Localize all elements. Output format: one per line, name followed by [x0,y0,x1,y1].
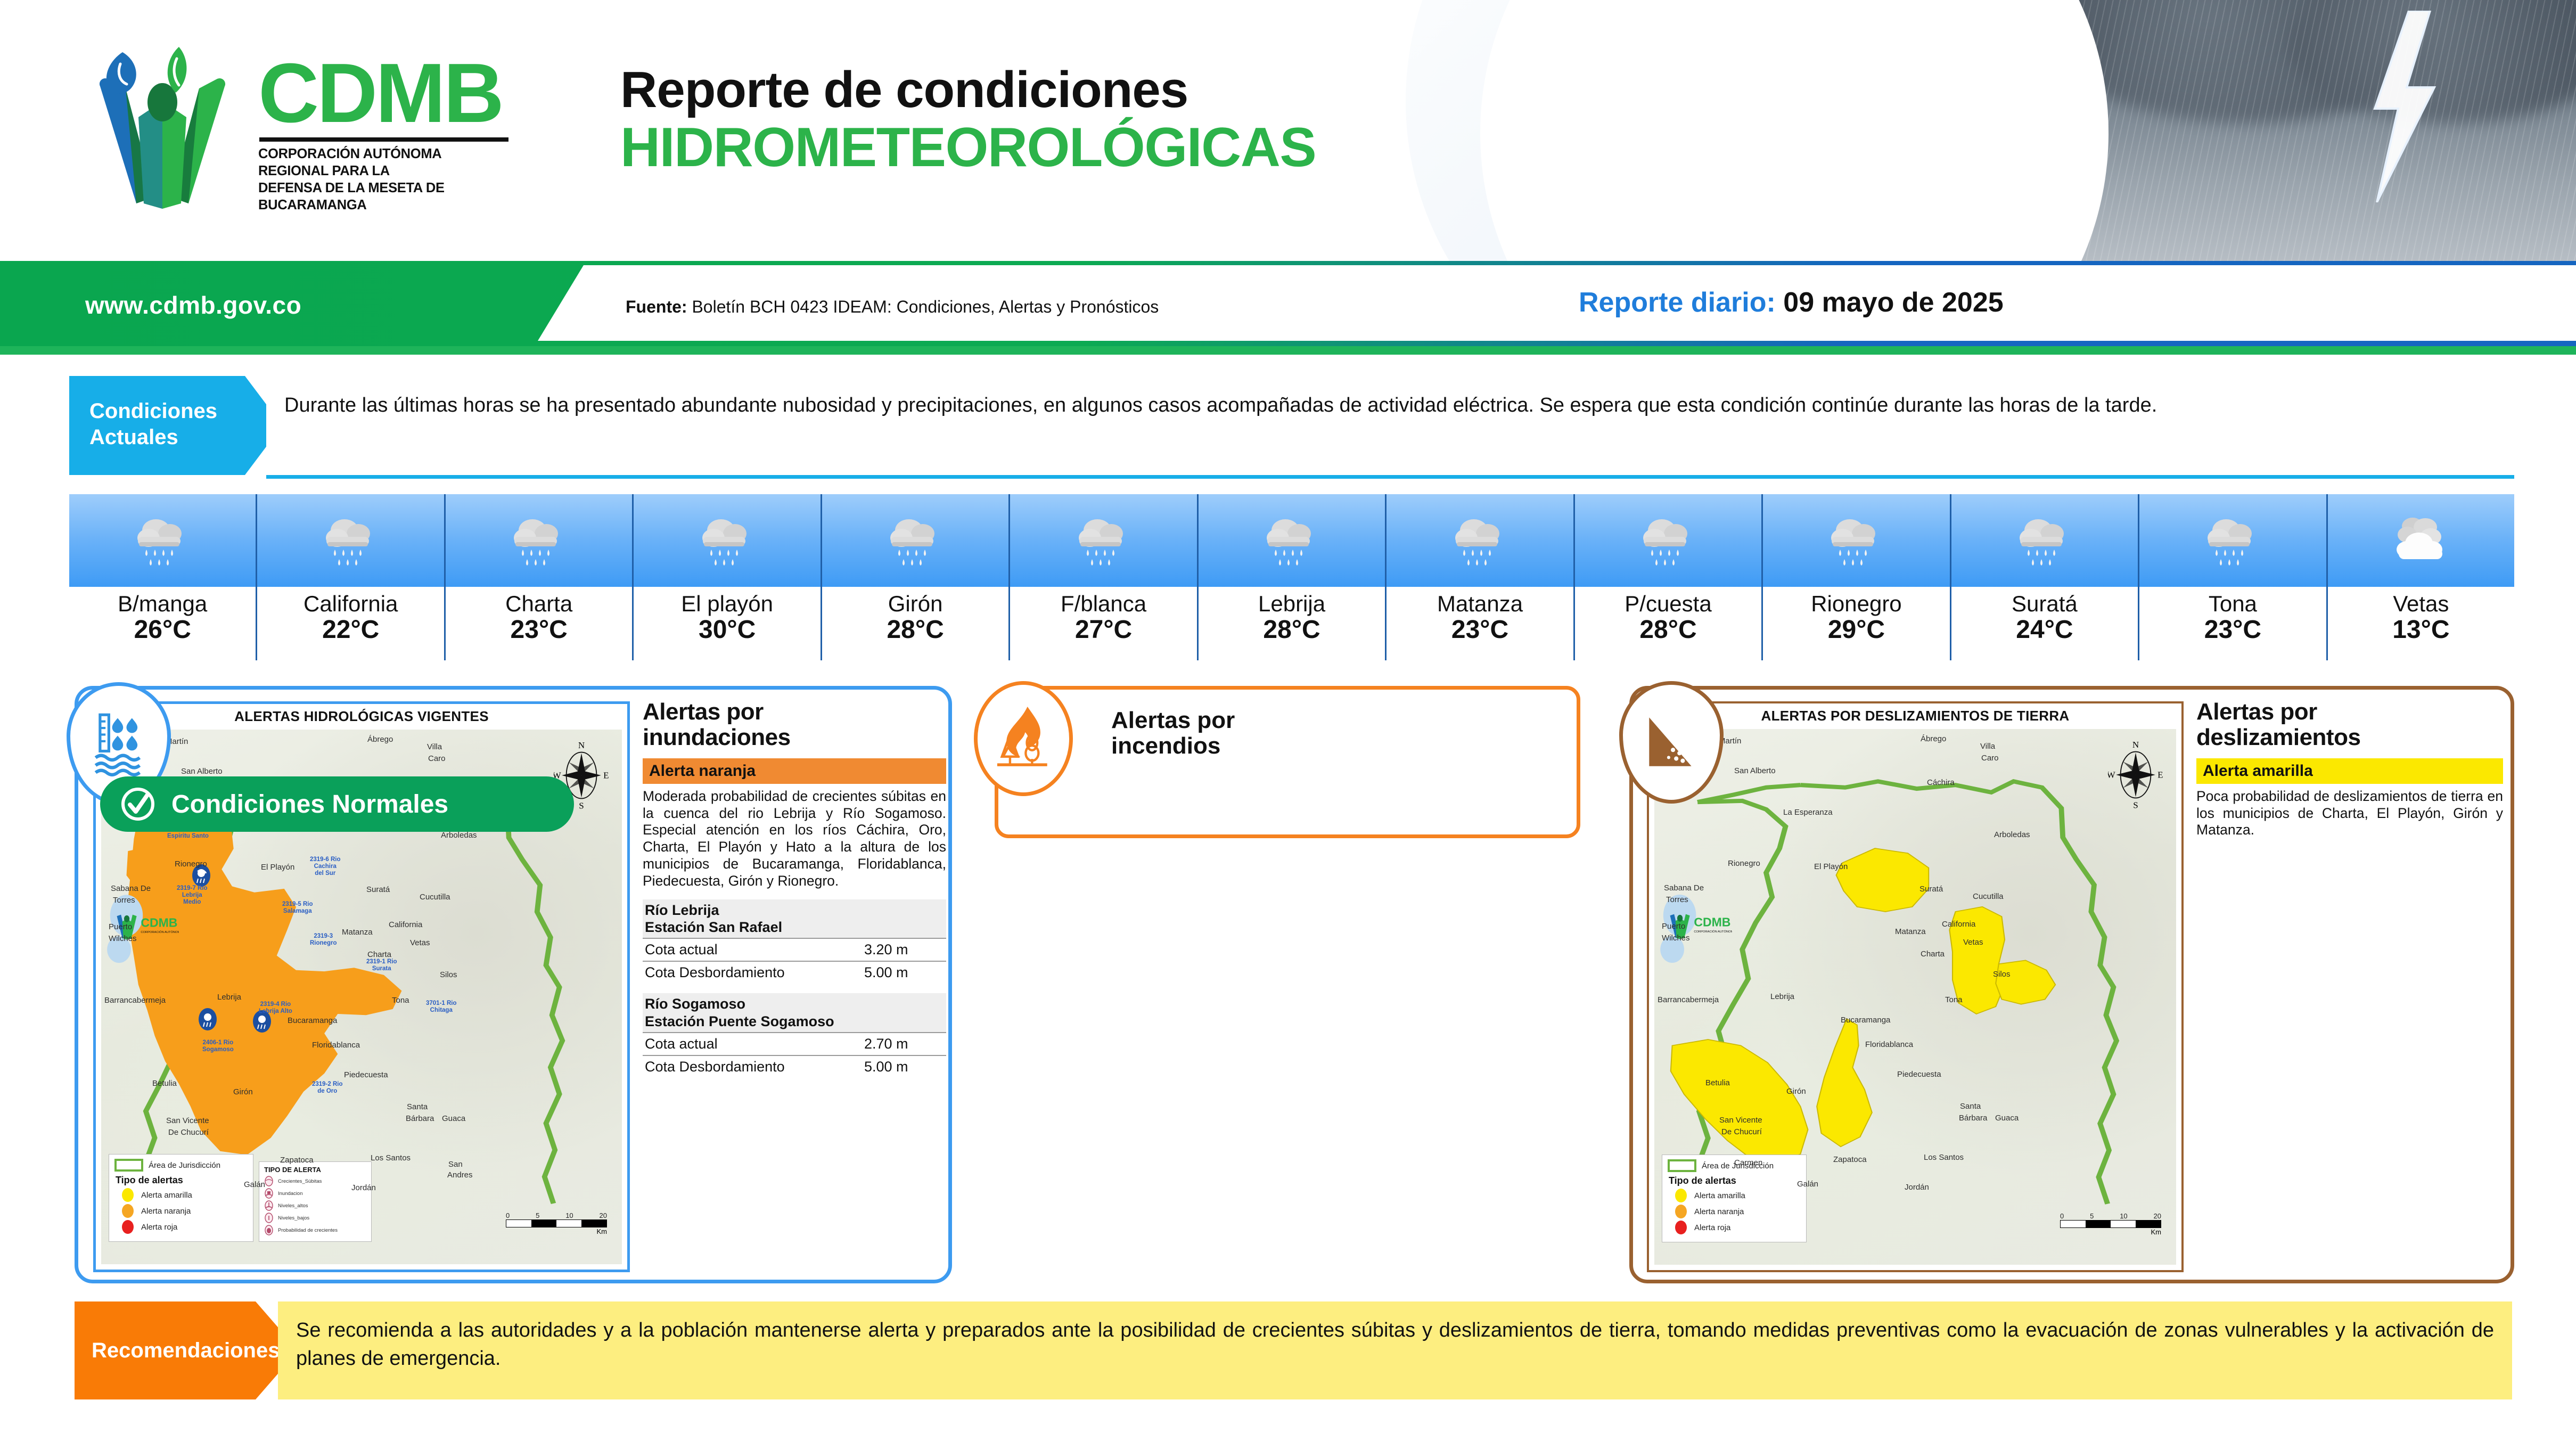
map-place-label: Floridablanca [1865,1040,1913,1049]
niveles-bajos-icon [264,1213,274,1223]
map-place-label: Suratá [366,885,390,894]
map-place-label: Galán [244,1180,265,1189]
logo-subtitle-line2: DEFENSA DE LA MESETA DE BUCARAMANGA [258,180,514,214]
svg-text:S: S [579,800,584,811]
map-place-label: California [1942,920,1975,929]
landslide-map-scalebar: 0 5 10 20 Km [2060,1212,2161,1236]
lightning-icon [2347,11,2454,202]
rain-cloud-icon [446,494,632,587]
map-place-label: Bucaramanga [288,1016,337,1025]
recommendations-tag: Recomendaciones: [75,1301,298,1399]
scale-tick: 20 [600,1211,607,1219]
weather-temperature: 27°C [1075,617,1132,643]
legend-types-title: Tipo de alertas [1669,1175,1801,1186]
flood-alerts-card: ALERTAS HIDROLÓGICAS VIGENTES [75,686,952,1283]
map-place-label: Wilches [1662,934,1690,943]
row-value: 2.70 m [864,1036,944,1052]
weather-city-name: Girón [888,592,943,616]
map-basin-label: 2319-6 RioCachiradel Sur [310,856,341,877]
check-circle-icon [118,784,158,824]
rain-cloud-icon [1763,494,1949,587]
flood-heading-line2: inundaciones [643,725,946,750]
weather-city-name: Lebrija [1258,592,1325,616]
fire-heading-line1: Alertas por [1111,708,1235,733]
legend-dot-yellow [122,1188,134,1202]
alert-type-label: Inundacion [278,1191,302,1197]
map-place-label: Piedecuesta [1897,1070,1941,1079]
map-place-label: Cucutilla [420,893,450,902]
map-place-label: Silos [1993,970,2011,979]
map-place-label: Cucutilla [1973,892,2004,901]
scale-unit: Km [2060,1228,2161,1236]
alert-marker-icon [197,1006,218,1032]
map-place-label: Bárbara [1959,1114,1987,1123]
fire-alerts-card: Alertas por incendios [995,686,1580,838]
weather-cell-matanza: Matanza23°C [1387,494,1574,660]
landslide-alert-description: Poca probabilidad de deslizamientos de t… [2196,788,2503,839]
legend-dot-red [122,1220,134,1234]
svg-text:E: E [603,771,609,781]
inundacion-icon [264,1188,274,1199]
map-place-label: De Chucurí [1721,1127,1762,1136]
current-conditions-text: Durante las últimas horas se ha presenta… [266,376,2514,475]
report-date-block: Reporte diario: 09 mayo de 2025 [1579,286,2004,318]
map-place-label: Ábrego [1921,734,1946,743]
map-place-label: Matanza [342,928,373,937]
rain-cloud-icon [822,494,1008,587]
jurisdiction-swatch [114,1159,143,1172]
weather-city-name: Matanza [1437,592,1523,616]
scale-tick: 5 [2090,1212,2094,1220]
source-text: Fuente: Boletín BCH 0423 IDEAM: Condicio… [626,297,1159,317]
weather-temperature: 29°C [1828,617,1885,643]
map-place-label: Jordán [1905,1183,1929,1192]
logo-subtitle-line1: CORPORACIÓN AUTÓNOMA REGIONAL PARA LA [258,146,514,180]
map-place-label: Villa [1980,742,1995,751]
legend-dot-orange [122,1204,134,1218]
scale-tick: 20 [2154,1212,2161,1220]
svg-text:CORPORACIÓN AUTÓNOMA: CORPORACIÓN AUTÓNOMA [1694,930,1732,934]
weather-cell-tona: Tona23°C [2139,494,2327,660]
map-basin-label: 2319-2 Riode Oro [312,1081,343,1095]
map-place-label: Zapatoca [280,1156,314,1165]
landslide-alert-level-badge: Alerta amarilla [2196,758,2503,784]
rain-cloud-icon [634,494,820,587]
weather-city-name: Rionegro [1811,592,1901,616]
table-row: Cota Desbordamiento 5.00 m [643,961,946,984]
rain-cloud-icon [1387,494,1573,587]
weather-temperature: 24°C [2016,617,2073,643]
table-row: Cota Desbordamiento 5.00 m [643,1055,946,1078]
map-place-label: Charta [367,950,391,959]
jurisdiction-swatch [1668,1159,1696,1172]
scale-tick: 10 [565,1211,573,1219]
weather-city-name: Vetas [2393,592,2449,616]
row-value: 5.00 m [864,964,944,981]
landslide-alerts-card: ALERTAS POR DESLIZAMIENTOS DE TIERRA [1629,686,2514,1283]
hydro-map-scalebar: 0 5 10 20 Km [506,1211,607,1235]
svg-text:S: S [2133,800,2138,810]
river-name: Río Sogamoso [645,995,943,1012]
map-basin-label: 2319-4 RioLebrija Alto [259,1001,292,1015]
rain-cloud-icon [1199,494,1385,587]
river-station-table-sogamoso: Río Sogamoso Estación Puente Sogamoso Co… [643,993,946,1078]
map-place-label: Rionegro [1728,859,1760,868]
map-place-label: San Vicente [166,1116,209,1125]
legend-label-red: Alerta roja [141,1223,177,1232]
map-place-label: Lebrija [1770,992,1794,1001]
alert-type-label: Niveles_altos [278,1203,308,1209]
svg-text:CORPORACIÓN AUTÓNOMA: CORPORACIÓN AUTÓNOMA [141,930,179,934]
map-place-label: Matanza [1895,927,1926,936]
weather-cell-charta: Charta23°C [446,494,634,660]
map-place-label: Tona [392,996,409,1005]
map-basin-label: 2319-3Rionegro [310,933,337,947]
weather-temperature: 28°C [887,617,944,643]
svg-text:CDMB: CDMB [1694,915,1730,929]
info-bar: www.cdmb.gov.co Fuente: Boletín BCH 0423… [0,261,2576,350]
landslide-heading-line2: deslizamientos [2196,725,2503,750]
bar-underline [0,346,2576,355]
scale-tick: 0 [2060,1212,2064,1220]
row-label: Cota Desbordamiento [645,1059,785,1075]
report-date-label: Reporte diario: [1579,287,1776,318]
legend-label-red: Alerta roja [1694,1223,1730,1232]
map-place-label: Barrancabermeja [1658,995,1719,1004]
map-place-label: Tona [1945,995,1963,1004]
fire-status-badge: Condiciones Normales [100,776,574,832]
current-conditions-tag: Condiciones Actuales [69,376,282,475]
legend-jurisdiction-label: Área de Jurisdicción [149,1161,220,1170]
alert-type-label: Crecientes_Súbitas [278,1178,322,1184]
weather-temperature: 30°C [699,617,756,643]
hydro-map-legend: Área de Jurisdicción Tipo de alertas Ale… [109,1154,253,1242]
svg-text:CDMB: CDMB [141,916,177,930]
website-url[interactable]: www.cdmb.gov.co [85,291,301,320]
landslide-card-heading: Alertas por deslizamientos [2196,699,2503,751]
map-basin-label: 2406-1 RioSogamoso [202,1039,234,1053]
scale-unit: Km [506,1227,607,1235]
source-value: Boletín BCH 0423 IDEAM: Condiciones, Ale… [692,297,1159,316]
row-label: Cota actual [645,1036,718,1052]
weather-city-name: P/cuesta [1625,592,1711,616]
map-place-label: Los Santos [1924,1153,1964,1162]
map-place-label: Torres [113,896,135,905]
rain-cloud-icon [1010,494,1196,587]
compass-rose-icon: N S W E [2108,739,2163,811]
map-place-label: Villa [427,742,442,751]
map-place-label: Jordán [351,1183,376,1192]
page-header: CDMB CORPORACIÓN AUTÓNOMA REGIONAL PARA … [0,0,2576,261]
map-place-label: Rionegro [175,859,207,869]
rain-cloud-icon [257,494,444,587]
landslide-map-legend: Área de Jurisdicción Tipo de alertas Ale… [1662,1155,1807,1242]
map-place-label: Bucaramanga [1841,1016,1890,1025]
cdmb-logo-mark [75,37,250,213]
niveles-altos-icon [264,1200,274,1211]
map-place-label: Torres [1666,895,1688,904]
map-place-label: Barrancabermeja [104,996,166,1005]
map-place-label: Guaca [442,1114,465,1123]
alert-type-legend-title: TIPO DE ALERTA [264,1166,367,1174]
weather-city-name: California [303,592,398,616]
legend-types-title: Tipo de alertas [116,1175,248,1186]
map-basin-label: 2319-1 RioSurata [366,959,397,972]
logo-acronym: CDMB [258,53,514,133]
map-basin-label: 2319-7 RioLebrijaMedio [177,885,208,906]
flood-heading-line1: Alertas por [643,699,946,725]
map-place-label: Zapatoca [1833,1155,1867,1164]
weather-temperature: 26°C [134,617,191,643]
svg-text:W: W [2108,770,2116,780]
map-place-label: Puerto [1662,922,1685,931]
map-place-label: Puerto [109,922,132,931]
table-row: Cota actual 2.70 m [643,1032,946,1055]
landslide-alerts-map[interactable]: ALERTAS POR DESLIZAMIENTOS DE TIERRA [1647,701,2184,1272]
map-place-label: Sabana De [111,884,151,893]
map-place-label: Carmen [1734,1158,1762,1167]
station-name: Estación San Rafael [645,919,943,936]
map-place-label: Arboledas [1994,830,2030,839]
map-place-label: San Alberto [1734,766,1776,775]
map-place-label: El Playón [261,863,294,872]
map-place-label: Betulia [1705,1078,1730,1087]
weather-city-name: Tona [2209,592,2257,616]
weather-city-name: B/manga [118,592,207,616]
map-place-label: Ábrego [367,735,393,744]
map-place-label: California [389,920,422,929]
cdmb-logo: CDMB CORPORACIÓN AUTÓNOMA REGIONAL PARA … [75,37,554,229]
map-place-label: Santa [407,1102,428,1111]
map-place-label: Galán [1797,1180,1818,1189]
map-place-label: La Esperanza [1783,808,1833,817]
scale-tick: 10 [2120,1212,2127,1220]
map-place-label: Caro [1981,754,1999,763]
scale-tick: 0 [506,1211,510,1219]
rain-cloud-icon [69,494,256,587]
recommendations-text: Se recomienda a las autoridades y a la p… [278,1301,2512,1399]
page-title: Reporte de condiciones HIDROMETEOROLÓGIC… [620,64,1316,176]
legend-dot-orange [1675,1205,1687,1218]
legend-label-yellow: Alerta amarilla [141,1191,192,1200]
weather-temperature: 13°C [2392,617,2449,643]
map-place-label: Sabana De [1664,883,1704,893]
weather-temperature: 23°C [1451,617,1508,643]
crecientes-subitas-icon [264,1176,274,1186]
map-place-label: Los Santos [371,1153,411,1163]
weather-cell-bmanga: B/manga26°C [69,494,257,660]
conditions-tag-line1: Condiciones [89,398,282,424]
map-place-label: Guaca [1995,1114,2019,1123]
landslide-heading-line1: Alertas por [2196,699,2503,725]
weather-cell-california: California22°C [257,494,445,660]
rain-cloud-icon [1951,494,2138,587]
cloudy-icon [2328,494,2514,587]
weather-cell-fblanca: F/blanca27°C [1010,494,1198,660]
legend-dot-yellow [1675,1189,1687,1202]
map-place-label: Floridablanca [312,1041,360,1050]
hydro-alert-type-legend: TIPO DE ALERTA Crecientes_Súbitas Inunda… [259,1161,372,1242]
rain-cloud-icon [1575,494,1761,587]
map-place-label: Girón [233,1087,253,1096]
weather-cell-elplayn: El playón30°C [634,494,822,660]
table-row: Cota actual 3.20 m [643,938,946,961]
map-place-label: Andres [447,1170,473,1180]
map-place-label: San Vicente [1719,1116,1762,1125]
legend-dot-red [1675,1221,1687,1234]
title-line-2: HIDROMETEOROLÓGICAS [620,119,1316,176]
fire-forest-icon [974,681,1073,796]
hydro-map-title: ALERTAS HIDROLÓGICAS VIGENTES [96,708,627,725]
current-conditions-row: Condiciones Actuales Durante las últimas… [69,376,2514,475]
landslide-map-title: ALERTAS POR DESLIZAMIENTOS DE TIERRA [1649,708,2181,724]
row-label: Cota Desbordamiento [645,964,785,981]
weather-temperature: 28°C [1639,617,1696,643]
weather-cell-girn: Girón28°C [822,494,1010,660]
row-value: 3.20 m [864,942,944,958]
map-place-label: Arboledas [441,831,477,840]
legend-label-yellow: Alerta amarilla [1694,1191,1745,1200]
recommendations-row: Recomendaciones: Se recomienda a las aut… [75,1301,2512,1399]
map-place-label: Santa [1960,1102,1981,1111]
fire-card-heading: Alertas por incendios [1111,708,1235,759]
svg-text:N: N [578,740,585,750]
map-place-label: Girón [1786,1087,1806,1096]
map-place-label: Wilches [109,934,137,943]
map-place-label: Caro [428,754,446,763]
weather-temperature: 28°C [1263,617,1320,643]
report-date-value: 09 mayo de 2025 [1783,287,2003,318]
alert-type-label: Niveles_bajos [278,1215,309,1221]
flood-card-heading: Alertas por inundaciones [643,699,946,751]
weather-city-name: Charta [505,592,572,616]
map-place-label: Lebrija [217,993,241,1002]
river-station-table-lebrija: Río Lebrija Estación San Rafael Cota act… [643,899,946,984]
map-place-label: Bárbara [406,1114,434,1123]
weather-cell-lebrija: Lebrija28°C [1199,494,1387,660]
weather-cell-vetas: Vetas13°C [2328,494,2514,660]
map-basin-label: 2319-5 RioSalamaga [282,901,313,915]
map-place-label: San [448,1160,463,1169]
conditions-tag-line2: Actuales [89,424,282,451]
svg-text:N: N [2132,740,2139,750]
probabilidad-crecientes-icon [264,1225,274,1235]
map-basin-label: 3701-1 RioChitaga [426,1000,457,1014]
map-place-label: Charta [1921,949,1945,959]
fire-heading-line2: incendios [1111,733,1235,759]
map-place-label: Piedecuesta [344,1070,388,1079]
source-label: Fuente: [626,297,687,316]
title-line-1: Reporte de condiciones [620,64,1316,116]
weather-cell-surat: Suratá24°C [1951,494,2139,660]
weather-cell-pcuesta: P/cuesta28°C [1575,494,1763,660]
map-place-label: Silos [440,970,457,979]
legend-label-orange: Alerta naranja [1694,1207,1744,1216]
map-place-label: Vetas [1963,938,1983,947]
rain-cloud-icon [2139,494,2326,587]
map-place-label: Betulia [152,1079,177,1088]
weather-city-name: F/blanca [1061,592,1146,616]
map-place-label: San Alberto [181,767,223,776]
station-name: Estación Puente Sogamoso [645,1013,943,1030]
map-place-label: Suratá [1919,885,1943,894]
fire-status-text: Condiciones Normales [171,790,448,819]
map-place-label: El Playón [1814,862,1848,871]
map-place-label: Vetas [410,938,430,947]
weather-city-name: El playón [681,592,773,616]
weather-strip: B/manga26°C California22°C Charta23°C [69,494,2514,660]
flood-alert-level-badge: Alerta naranja [643,758,946,784]
row-label: Cota actual [645,942,718,958]
scale-tick: 5 [536,1211,539,1219]
weather-temperature: 22°C [322,617,379,643]
legend-label-orange: Alerta naranja [141,1207,191,1216]
alert-type-label: Probabilidad de crecientes [278,1227,338,1233]
map-place-label: De Chucurí [168,1128,209,1137]
weather-city-name: Suratá [2012,592,2078,616]
weather-cell-rionegro: Rionegro29°C [1763,494,1951,660]
svg-text:E: E [2157,770,2163,780]
river-name: Río Lebrija [645,902,943,919]
weather-temperature: 23°C [511,617,568,643]
weather-temperature: 23°C [2204,617,2261,643]
map-place-label: Cáchira [1927,778,1955,787]
flood-alert-description: Moderada probabilidad de crecientes súbi… [643,788,946,890]
row-value: 5.00 m [864,1059,944,1075]
